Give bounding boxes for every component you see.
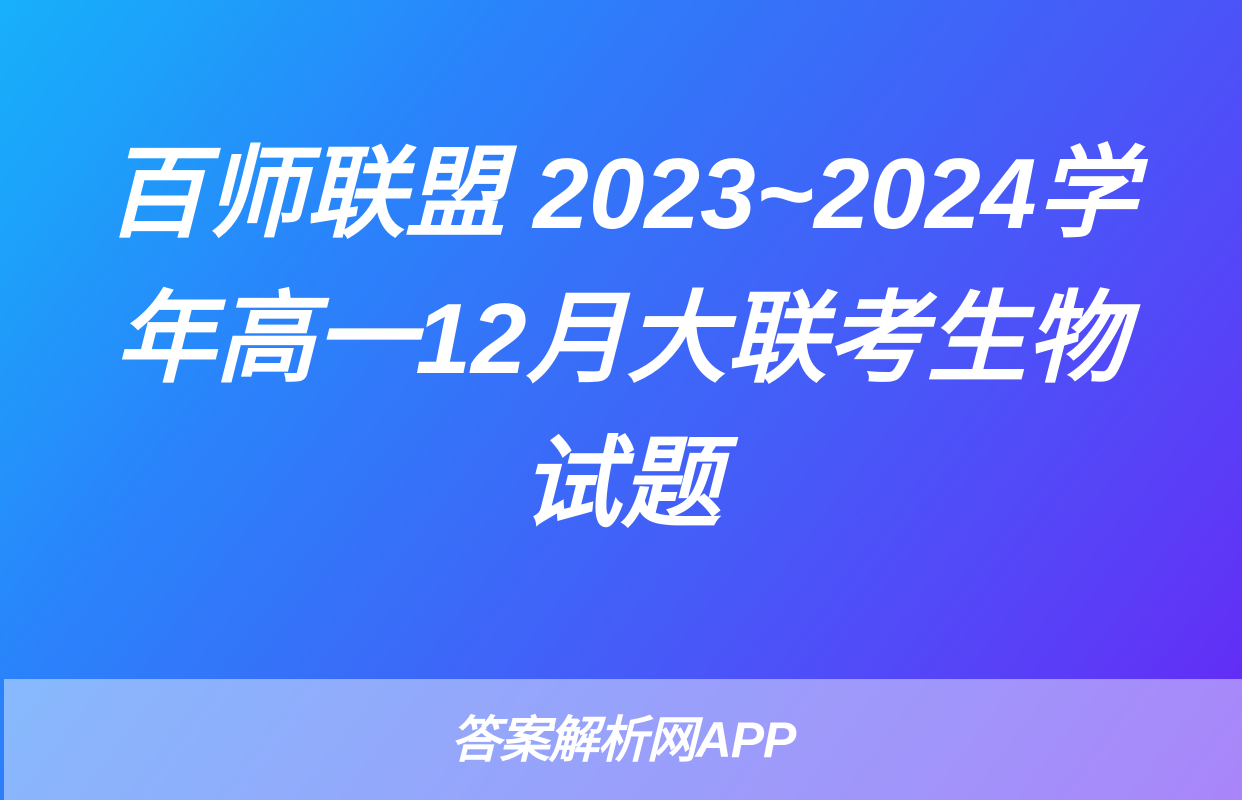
- title-block: 百师联盟 2023~2024学年高一12月大联考生物试题: [0, 0, 1242, 679]
- page-title: 百师联盟 2023~2024学年高一12月大联考生物试题: [78, 122, 1164, 557]
- poster-container: 百师联盟 2023~2024学年高一12月大联考生物试题 答案解析网APP: [0, 0, 1242, 800]
- app-promo-banner[interactable]: 答案解析网APP: [4, 679, 1242, 800]
- app-promo-label: 答案解析网APP: [451, 712, 796, 768]
